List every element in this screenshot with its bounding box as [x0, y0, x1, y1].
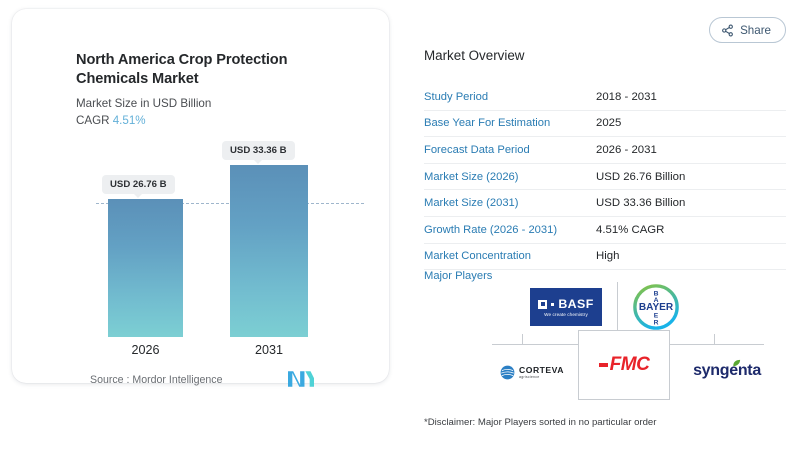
connector-line-vertical-left: [522, 334, 523, 344]
connector-line-vertical-right: [714, 334, 715, 344]
share-button-label: Share: [740, 24, 771, 37]
logo-corteva[interactable]: CORTEVA agriscience: [492, 360, 572, 384]
fmc-dash-icon: [599, 363, 608, 368]
major-players-diagram: BASF We create chemistry BAYER B A E: [492, 282, 782, 400]
bar-label-2026: USD 26.76 B: [102, 175, 175, 194]
table-row: Study Period 2018 - 2031: [424, 84, 786, 111]
table-row: Base Year For Estimation 2025: [424, 111, 786, 138]
row-value: USD 26.76 Billion: [596, 171, 685, 183]
table-row: Growth Rate (2026 - 2031) 4.51% CAGR: [424, 217, 786, 244]
share-button[interactable]: Share: [709, 17, 786, 43]
cagr-label: CAGR: [76, 114, 110, 127]
page-title: North America Crop Protection Chemicals …: [76, 51, 356, 90]
x-tick-2031: 2031: [230, 343, 308, 357]
table-row: Market Size (2026) USD 26.76 Billion: [424, 164, 786, 191]
svg-text:A: A: [654, 297, 659, 304]
fmc-wordmark-wrap: FMC: [599, 354, 650, 376]
corteva-wordmark: CORTEVA: [519, 365, 564, 375]
row-label: Study Period: [424, 91, 596, 103]
table-row: Forecast Data Period 2026 - 2031: [424, 137, 786, 164]
cagr-value: 4.51%: [113, 114, 146, 127]
basf-mark: BASF: [538, 297, 593, 311]
syngenta-leaf-icon: [732, 359, 741, 368]
market-overview-title: Market Overview: [424, 48, 524, 63]
source-text: Source : Mordor Intelligence: [90, 374, 223, 386]
svg-text:R: R: [654, 319, 659, 326]
chart-card: North America Crop Protection Chemicals …: [12, 9, 389, 383]
x-tick-2026: 2026: [108, 343, 183, 357]
logo-syngenta[interactable]: syngenta: [684, 358, 770, 384]
svg-text:E: E: [654, 313, 659, 320]
row-label: Base Year For Estimation: [424, 117, 596, 129]
row-label: Forecast Data Period: [424, 144, 596, 156]
row-value: High: [596, 250, 619, 262]
row-value: 2018 - 2031: [596, 91, 657, 103]
fmc-wordmark: FMC: [610, 354, 650, 376]
syngenta-wordmark: syngenta: [693, 362, 761, 380]
table-row: Market Size (2031) USD 33.36 Billion: [424, 190, 786, 217]
row-label: Market Size (2031): [424, 197, 596, 209]
mordor-intelligence-logo-icon: [288, 371, 314, 387]
row-label: Market Size (2026): [424, 171, 596, 183]
basf-dot-icon: [551, 303, 554, 306]
row-value: 2026 - 2031: [596, 144, 657, 156]
logo-basf[interactable]: BASF We create chemistry: [530, 288, 602, 326]
chart-subtitle: Market Size in USD Billion: [76, 97, 211, 110]
row-label: Major Players: [424, 270, 596, 282]
corteva-globe-icon: [500, 365, 515, 380]
market-overview-table: Study Period 2018 - 2031 Base Year For E…: [424, 84, 786, 294]
basf-tagline: We create chemistry: [544, 312, 588, 317]
row-label: Market Concentration: [424, 250, 596, 262]
disclaimer-text: *Disclaimer: Major Players sorted in no …: [424, 417, 656, 428]
bayer-cross-icon: BAYER B A E R: [632, 283, 680, 331]
basf-square-icon: [538, 300, 547, 309]
logo-bayer[interactable]: BAYER B A E R: [632, 283, 680, 331]
corteva-tagline: agriscience: [519, 375, 564, 379]
logo-fmc[interactable]: FMC: [578, 330, 670, 400]
svg-text:B: B: [654, 290, 659, 297]
bar-chart-plot: USD 26.76 B USD 33.36 B 2026 2031: [76, 137, 366, 337]
market-summary-page: North America Crop Protection Chemicals …: [0, 0, 800, 453]
bar-2031[interactable]: [230, 165, 308, 337]
row-value: 2025: [596, 117, 621, 129]
table-row: Market Concentration High: [424, 244, 786, 271]
share-nodes-icon: [721, 24, 734, 37]
row-value: 4.51% CAGR: [596, 224, 664, 236]
basf-wordmark: BASF: [558, 297, 593, 311]
row-label: Growth Rate (2026 - 2031): [424, 224, 596, 236]
row-value: USD 33.36 Billion: [596, 197, 685, 209]
bar-label-2031: USD 33.36 B: [222, 141, 295, 160]
corteva-wordmark-wrap: CORTEVA agriscience: [519, 365, 564, 379]
connector-line-vertical-top: [617, 282, 618, 334]
chart-cagr: CAGR 4.51%: [76, 114, 146, 127]
bar-2026[interactable]: [108, 199, 183, 337]
